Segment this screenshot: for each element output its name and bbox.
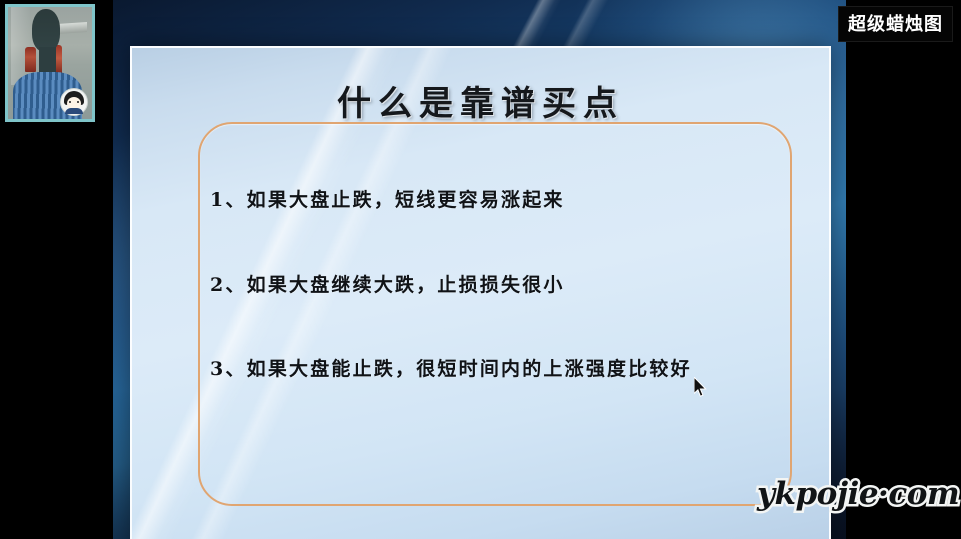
slide-content-box [198, 122, 792, 506]
bullet-item-1: 1、如果大盘止跌，短线更容易涨起来 [210, 185, 565, 212]
bullet-item-3: 3、如果大盘能止跌，很短时间内的上涨强度比较好 [210, 354, 692, 381]
slide: 什么是靠谱买点 1、如果大盘止跌，短线更容易涨起来 2、如果大盘继续大跌，止损损… [130, 46, 831, 539]
avatar [60, 88, 88, 116]
site-watermark: ykpojie·com [757, 476, 959, 512]
avatar-eyes [69, 101, 79, 103]
webcam-scene-wall-charm-left [25, 47, 36, 72]
webcam-thumbnail[interactable] [5, 4, 95, 122]
webcam-person-head [32, 9, 61, 52]
screen-root: 什么是靠谱买点 1、如果大盘止跌，短线更容易涨起来 2、如果大盘继续大跌，止损损… [0, 0, 961, 539]
letterbox-right [846, 0, 961, 539]
webcam-scene-wall-panel [57, 22, 87, 34]
channel-badge: 超级蜡烛图 [838, 6, 953, 42]
avatar-collar [65, 108, 83, 114]
slide-title: 什么是靠谱买点 [132, 76, 829, 125]
bullet-item-2: 2、如果大盘继续大跌，止损损失很小 [210, 270, 565, 297]
